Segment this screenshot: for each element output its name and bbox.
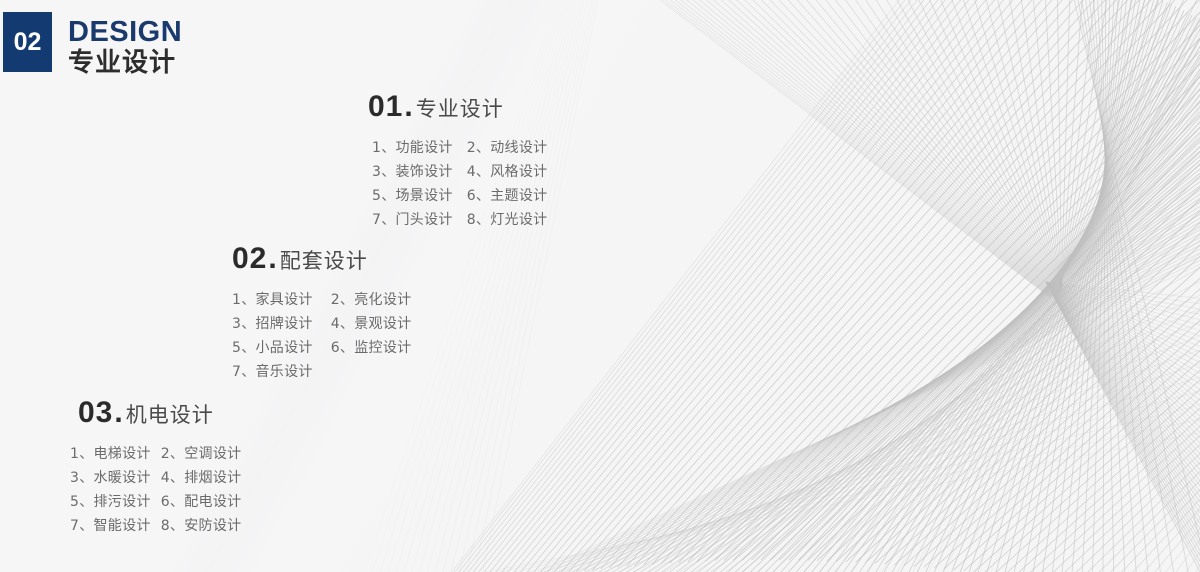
- section-03-list: 1、电梯设计 2、空调设计 3、水暖设计 4、排烟设计 5、排污设计 6、配电设…: [70, 442, 241, 538]
- list-item: 4、景观设计: [331, 312, 412, 336]
- list-item: 2、动线设计: [467, 136, 548, 160]
- section-01-name: 专业设计: [416, 93, 504, 123]
- list-item: 1、家具设计: [232, 288, 313, 312]
- list-row: 7、门头设计 8、灯光设计: [372, 208, 547, 232]
- list-item: 1、电梯设计: [70, 442, 151, 466]
- list-item: 6、主题设计: [467, 184, 548, 208]
- section-02-list: 1、家具设计 2、亮化设计 3、招牌设计 4、景观设计 5、小品设计 6、监控设…: [232, 288, 411, 384]
- list-row: 1、电梯设计 2、空调设计: [70, 442, 241, 466]
- list-row: 1、家具设计 2、亮化设计: [232, 288, 411, 312]
- list-item: 6、配电设计: [161, 490, 242, 514]
- list-row: 5、排污设计 6、配电设计: [70, 490, 241, 514]
- list-item: 8、灯光设计: [467, 208, 548, 232]
- section-01-heading: 01 . 专业设计: [368, 90, 547, 124]
- section-03-number: 03: [78, 396, 113, 430]
- content-section-03: 03 . 机电设计 1、电梯设计 2、空调设计 3、水暖设计 4、排烟设计 5、…: [78, 396, 241, 538]
- section-03-dot: .: [114, 396, 122, 430]
- section-01-list: 1、功能设计 2、动线设计 3、装饰设计 4、风格设计 5、场景设计 6、主题设…: [372, 136, 547, 232]
- list-item: 6、监控设计: [331, 336, 412, 360]
- section-02-dot: .: [268, 242, 276, 276]
- list-item: 4、排烟设计: [161, 466, 242, 490]
- header-text-group: DESIGN 专业设计: [68, 17, 182, 79]
- list-item: 1、功能设计: [372, 136, 453, 160]
- slide-root: 02 DESIGN 专业设计 01 . 专业设计 1、功能设计 2、动线设计 3…: [0, 0, 1200, 572]
- section-01-number: 01: [368, 90, 403, 124]
- section-01-dot: .: [404, 90, 412, 124]
- section-02-number: 02: [232, 242, 267, 276]
- list-item: 3、水暖设计: [70, 466, 151, 490]
- section-number-badge: 02: [3, 12, 52, 72]
- slide-header: 02 DESIGN 专业设计: [3, 12, 182, 79]
- section-02-heading: 02 . 配套设计: [232, 242, 411, 276]
- list-row: 7、音乐设计: [232, 360, 411, 384]
- list-item: 2、亮化设计: [331, 288, 412, 312]
- list-item: 7、音乐设计: [232, 360, 313, 384]
- list-row: 3、水暖设计 4、排烟设计: [70, 466, 241, 490]
- list-item: 3、装饰设计: [372, 160, 453, 184]
- section-02-name: 配套设计: [280, 245, 368, 275]
- list-item: 4、风格设计: [467, 160, 548, 184]
- list-row: 5、场景设计 6、主题设计: [372, 184, 547, 208]
- list-item: 8、安防设计: [161, 514, 242, 538]
- content-section-02: 02 . 配套设计 1、家具设计 2、亮化设计 3、招牌设计 4、景观设计 5、…: [232, 242, 411, 384]
- list-row: 3、招牌设计 4、景观设计: [232, 312, 411, 336]
- list-row: 7、智能设计 8、安防设计: [70, 514, 241, 538]
- section-03-name: 机电设计: [126, 399, 214, 429]
- list-row: 3、装饰设计 4、风格设计: [372, 160, 547, 184]
- page-title-en: DESIGN: [68, 17, 182, 47]
- list-item: 5、小品设计: [232, 336, 313, 360]
- content-section-01: 01 . 专业设计 1、功能设计 2、动线设计 3、装饰设计 4、风格设计 5、…: [368, 90, 547, 232]
- list-item: 2、空调设计: [161, 442, 242, 466]
- list-row: 1、功能设计 2、动线设计: [372, 136, 547, 160]
- list-item: 5、场景设计: [372, 184, 453, 208]
- page-title-cn: 专业设计: [68, 49, 182, 79]
- list-item: 7、智能设计: [70, 514, 151, 538]
- section-number-text: 02: [14, 30, 42, 55]
- list-item: 3、招牌设计: [232, 312, 313, 336]
- list-item: 5、排污设计: [70, 490, 151, 514]
- list-item: 7、门头设计: [372, 208, 453, 232]
- section-03-heading: 03 . 机电设计: [78, 396, 241, 430]
- list-row: 5、小品设计 6、监控设计: [232, 336, 411, 360]
